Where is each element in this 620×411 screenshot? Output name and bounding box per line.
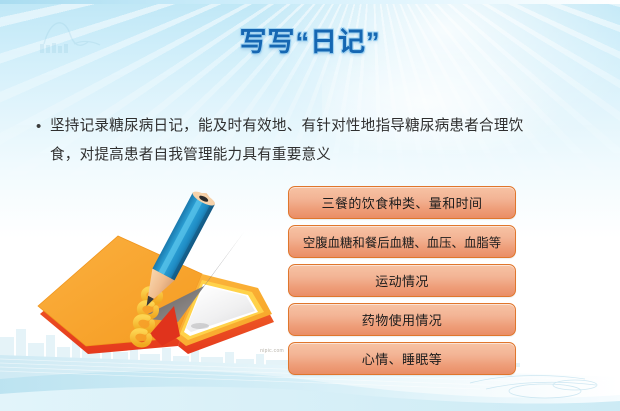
notebook-illustration: nipic.com: [28, 186, 290, 372]
list-item[interactable]: 三餐的饮食种类、量和时间: [288, 186, 516, 219]
list-item[interactable]: 药物使用情况: [288, 303, 516, 336]
body-paragraph-block: • 坚持记录糖尿病日记，能及时有效地、有针对性地指导糖尿病患者合理饮食，对提高患…: [36, 112, 526, 170]
list-item[interactable]: 心情、睡眠等: [288, 342, 516, 375]
page-title: 写写“日记”: [0, 20, 620, 59]
background-top-band: [0, 0, 620, 4]
illustration-watermark: nipic.com: [260, 348, 284, 354]
list-item[interactable]: 运动情况: [288, 264, 516, 297]
bullet-point-icon: •: [36, 112, 50, 141]
list-item-label: 药物使用情况: [362, 310, 442, 329]
list-item-label: 运动情况: [375, 271, 429, 290]
slide-canvas: 写写“日记” • 坚持记录糖尿病日记，能及时有效地、有针对性地指导糖尿病患者合理…: [0, 0, 620, 411]
diary-items-list: 三餐的饮食种类、量和时间 空腹血糖和餐后血糖、血压、血脂等 运动情况 药物使用情…: [288, 186, 516, 375]
list-item-label: 心情、睡眠等: [362, 349, 442, 368]
notebook-pencil-graphic: [28, 186, 290, 372]
list-item[interactable]: 空腹血糖和餐后血糖、血压、血脂等: [288, 225, 516, 258]
body-paragraph-text: 坚持记录糖尿病日记，能及时有效地、有针对性地指导糖尿病患者合理饮食，对提高患者自…: [50, 112, 526, 170]
list-item-label: 空腹血糖和餐后血糖、血压、血脂等: [303, 233, 501, 251]
list-item-label: 三餐的饮食种类、量和时间: [322, 193, 483, 212]
bullet-row: • 坚持记录糖尿病日记，能及时有效地、有针对性地指导糖尿病患者合理饮食，对提高患…: [36, 112, 526, 170]
